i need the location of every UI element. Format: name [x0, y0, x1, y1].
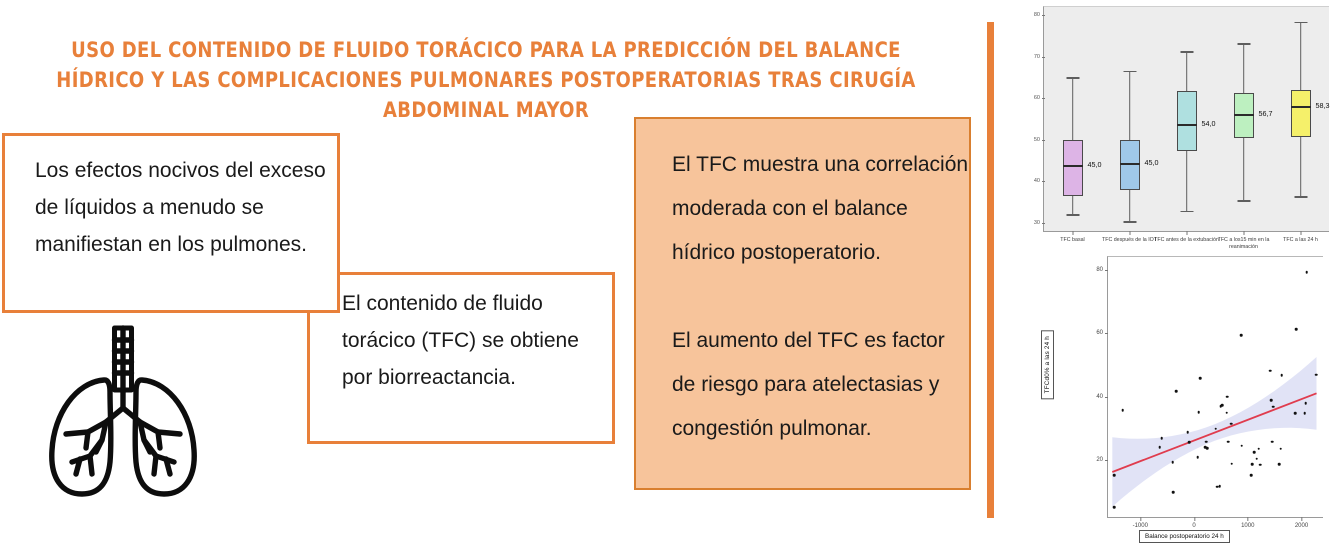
boxplot-y-tick: 30 — [1034, 220, 1040, 226]
tick-mark — [1187, 231, 1188, 235]
median-value-label: 45,0 — [1145, 158, 1159, 167]
boxplot-x-tick-label: TFC basal — [1040, 237, 1105, 244]
scatter-x-axis-label: Balance postoperatorio 24 h — [1139, 530, 1230, 543]
tick-mark — [1194, 517, 1195, 521]
scatter-x-tick: -1000 — [1133, 523, 1148, 529]
box-body — [1120, 140, 1140, 191]
scatter-regression-layer — [1108, 257, 1323, 517]
tick-mark — [1042, 98, 1045, 99]
whisker-cap — [1294, 196, 1307, 198]
scatter-point — [1250, 474, 1253, 477]
scatter-y-tick: 60 — [1096, 330, 1103, 336]
whisker-cap — [1180, 51, 1193, 53]
boxplot-box: 56,7 — [1234, 7, 1254, 231]
median-line — [1291, 106, 1311, 108]
boxplot-x-tick-label: TFC a los15 min en la reanimación — [1211, 237, 1276, 251]
boxplot-y-tick: 60 — [1034, 95, 1040, 101]
boxplot-y-tick: 40 — [1034, 178, 1040, 184]
median-line — [1120, 163, 1140, 165]
scatter-point — [1198, 411, 1201, 414]
tick-mark — [1073, 231, 1074, 235]
tick-mark — [1301, 517, 1302, 521]
scatter-point — [1294, 412, 1297, 415]
scatter-point — [1226, 396, 1229, 399]
scatter-point — [1172, 491, 1175, 494]
median-value-label: 56,7 — [1259, 109, 1273, 118]
tick-mark — [1042, 57, 1045, 58]
scatter-point — [1227, 440, 1230, 443]
median-value-label: 45,0 — [1088, 161, 1102, 170]
callout-findings-paragraph-1: El TFC muestra una correlación moderada … — [672, 143, 969, 275]
scatter-point — [1253, 451, 1256, 454]
scatter-point — [1199, 377, 1202, 380]
tick-mark — [1248, 517, 1249, 521]
median-line — [1234, 114, 1254, 116]
scatter-point — [1205, 441, 1208, 444]
box-body — [1291, 90, 1311, 136]
scatter-point — [1171, 461, 1174, 464]
callout-findings: El TFC muestra una correlación moderada … — [634, 117, 971, 490]
box-body — [1234, 93, 1254, 138]
scatter-point — [1188, 441, 1191, 444]
scatter-point — [1113, 506, 1116, 509]
tick-mark — [1301, 231, 1302, 235]
whisker-cap — [1237, 43, 1250, 45]
scatter-y-axis-label: TFCd0% a las 24 h — [1041, 330, 1054, 399]
scatter-point — [1303, 412, 1306, 415]
boxplot-box: 54,0 — [1177, 7, 1197, 231]
whisker-cap — [1123, 221, 1136, 223]
regression-line — [1112, 393, 1316, 472]
scatter-point — [1175, 390, 1178, 393]
scatter-point — [1279, 447, 1282, 450]
scatter-point — [1230, 462, 1233, 465]
scatter-y-tick: 20 — [1096, 457, 1103, 463]
vertical-divider — [987, 22, 994, 518]
scatter-point — [1305, 402, 1308, 405]
scatter-point — [1257, 447, 1260, 450]
page-title: Uso del contenido de fluido torácico par… — [45, 36, 927, 126]
scatter-x-tick: 1000 — [1241, 523, 1254, 529]
scatter-point — [1219, 485, 1222, 488]
tick-mark — [1105, 270, 1108, 271]
scatter-point — [1196, 456, 1199, 459]
scatter-point — [1315, 373, 1318, 376]
scatter-point — [1214, 428, 1217, 431]
scatter-point — [1160, 437, 1163, 440]
scatter-point — [1295, 328, 1298, 331]
tick-mark — [1130, 231, 1131, 235]
boxplot-y-tick: 50 — [1034, 137, 1040, 143]
median-value-label: 58,3 — [1316, 101, 1330, 110]
boxplot-y-tick: 70 — [1034, 54, 1040, 60]
scatter-point — [1270, 399, 1273, 402]
scatter-point — [1272, 405, 1275, 408]
scatter-point — [1271, 440, 1274, 443]
box-body — [1177, 91, 1197, 151]
callout-tfc-definition-text: El contenido de fluido torácico (TFC) se… — [342, 292, 579, 389]
scatter-y-tick: 80 — [1096, 267, 1103, 273]
scatter-point — [1259, 463, 1262, 466]
boxplot-x-tick-label: TFC después de la IOT — [1097, 237, 1162, 244]
tick-mark — [1105, 333, 1108, 334]
tick-mark — [1042, 15, 1045, 16]
scatter-point — [1186, 431, 1189, 434]
tick-mark — [1042, 140, 1045, 141]
callout-tfc-definition: El contenido de fluido torácico (TFC) se… — [307, 272, 615, 444]
median-line — [1177, 124, 1197, 126]
boxplot-x-tick-label: TFC a las 24 h — [1268, 237, 1333, 244]
whisker-cap — [1180, 211, 1193, 213]
whisker-cap — [1237, 200, 1250, 202]
scatter-point — [1278, 463, 1281, 466]
scatter-x-tick: 0 — [1192, 523, 1195, 529]
boxplot-box: 58,3 — [1291, 7, 1311, 231]
tick-mark — [1244, 231, 1245, 235]
median-value-label: 54,0 — [1202, 119, 1216, 128]
boxplot-x-tick-label: TFC antes de la extubación — [1154, 237, 1219, 244]
scatter-point — [1240, 334, 1243, 337]
whisker-cap — [1066, 77, 1079, 79]
tick-mark — [1042, 181, 1045, 182]
scatter-point — [1251, 463, 1254, 466]
whisker-cap — [1294, 22, 1307, 24]
whisker-cap — [1066, 214, 1079, 216]
scatter-point — [1306, 271, 1309, 274]
boxplot-y-tick: 80 — [1034, 12, 1040, 18]
boxplot-box: 45,0 — [1120, 7, 1140, 231]
scatter-y-tick: 40 — [1096, 394, 1103, 400]
callout-findings-paragraph-2: El aumento del TFC es factor de riesgo p… — [672, 319, 969, 451]
scatter-plot-area: 80604020-1000010002000 — [1107, 256, 1323, 518]
scatter-point — [1158, 446, 1161, 449]
boxplot-plot-area: 80706050403045,0TFC basal45,0TFC después… — [1043, 6, 1329, 232]
callout-harmful-effects-text: Los efectos nocivos del exceso de líquid… — [35, 159, 326, 256]
scatter-point — [1121, 409, 1124, 412]
tick-mark — [1042, 223, 1045, 224]
scatter-chart: 80604020-1000010002000 TFCd0% a las 24 h… — [1035, 252, 1333, 549]
whisker-cap — [1123, 71, 1136, 73]
scatter-point — [1113, 474, 1116, 477]
boxplot-chart: 80706050403045,0TFC basal45,0TFC después… — [1013, 2, 1333, 248]
scatter-x-tick: 2000 — [1295, 523, 1308, 529]
tick-mark — [1105, 460, 1108, 461]
scatter-point — [1241, 444, 1244, 447]
scatter-point — [1206, 447, 1209, 450]
scatter-point — [1280, 374, 1283, 377]
scatter-point — [1230, 422, 1233, 425]
infographic-root: Uso del contenido de fluido torácico par… — [0, 0, 1333, 549]
scatter-point — [1221, 404, 1224, 407]
tick-mark — [1140, 517, 1141, 521]
box-body — [1063, 140, 1083, 196]
callout-harmful-effects: Los efectos nocivos del exceso de líquid… — [2, 133, 340, 313]
scatter-point — [1269, 369, 1272, 372]
scatter-point — [1225, 411, 1228, 414]
tick-mark — [1105, 397, 1108, 398]
lungs-icon — [28, 322, 218, 500]
scatter-point — [1256, 457, 1259, 460]
median-line — [1063, 165, 1083, 167]
boxplot-box: 45,0 — [1063, 7, 1083, 231]
